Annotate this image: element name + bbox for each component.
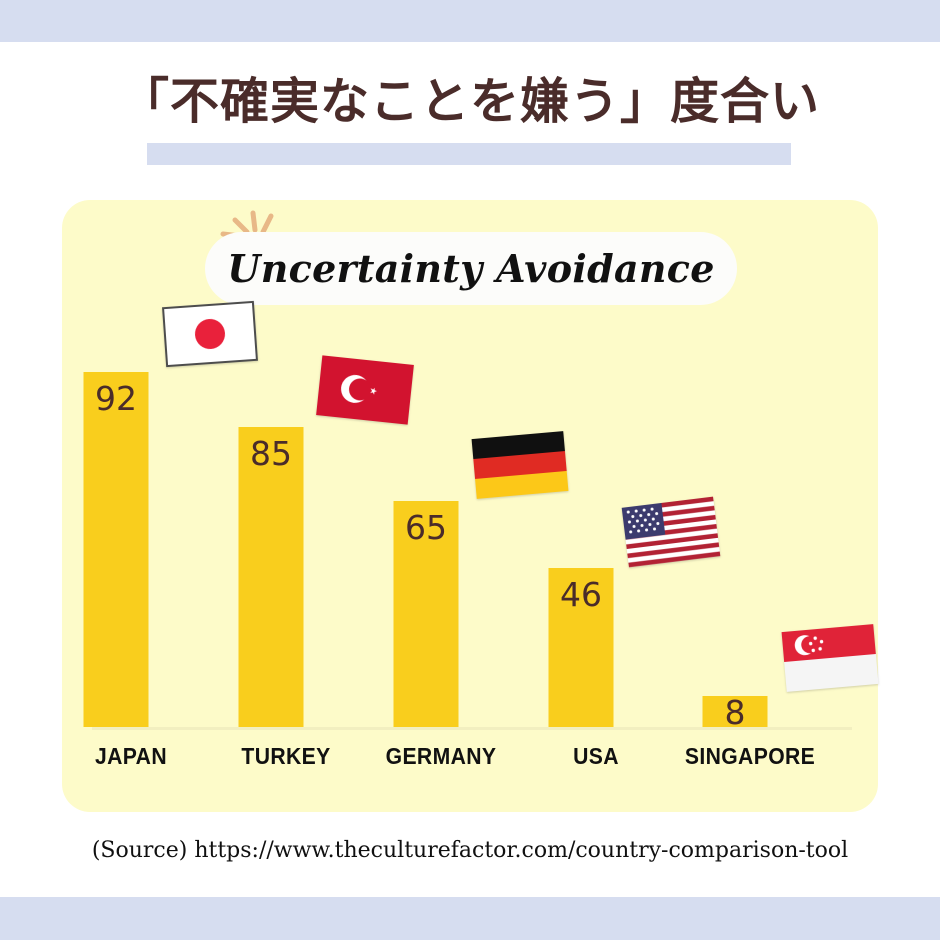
chart-panel: Uncertainty Avoidance 92 JAPAN [62, 200, 878, 812]
category-label-turkey: TURKEY [208, 743, 364, 770]
category-label-japan: JAPAN [53, 743, 209, 770]
bar-slot-usa: 46 [506, 285, 656, 727]
top-decorative-band [0, 0, 940, 42]
bar-turkey[interactable]: 85 [239, 427, 304, 727]
bar-value-germany: 65 [394, 509, 459, 547]
bottom-decorative-band [0, 897, 940, 940]
bar-usa[interactable]: 46 [549, 568, 614, 727]
source-citation: (Source) https://www.theculturefactor.co… [0, 838, 940, 863]
infographic-page: 「不確実なことを嫌う」度合い Uncertainty Avoidance [0, 0, 940, 940]
bar-singapore[interactable]: 8 [703, 696, 768, 727]
bar-slot-germany: 65 [351, 285, 501, 727]
bar-value-singapore: 8 [703, 694, 768, 732]
category-label-usa: USA [518, 743, 674, 770]
bar-japan[interactable]: 92 [84, 372, 149, 727]
bar-chart-plot: 92 JAPAN 85 TURKEY [62, 200, 878, 812]
bar-germany[interactable]: 65 [394, 501, 459, 727]
bar-value-turkey: 85 [239, 435, 304, 473]
page-title-japanese: 「不確実なことを嫌う」度合い [0, 62, 940, 133]
category-label-germany: GERMANY [363, 743, 519, 770]
bar-slot-turkey: 85 [196, 285, 346, 727]
bar-slot-singapore: 8 [660, 285, 810, 727]
title-underline [147, 143, 791, 165]
bar-value-usa: 46 [549, 576, 614, 614]
bar-slot-japan: 92 [41, 285, 191, 727]
bar-value-japan: 92 [84, 380, 149, 418]
category-label-singapore: SINGAPORE [672, 743, 828, 770]
